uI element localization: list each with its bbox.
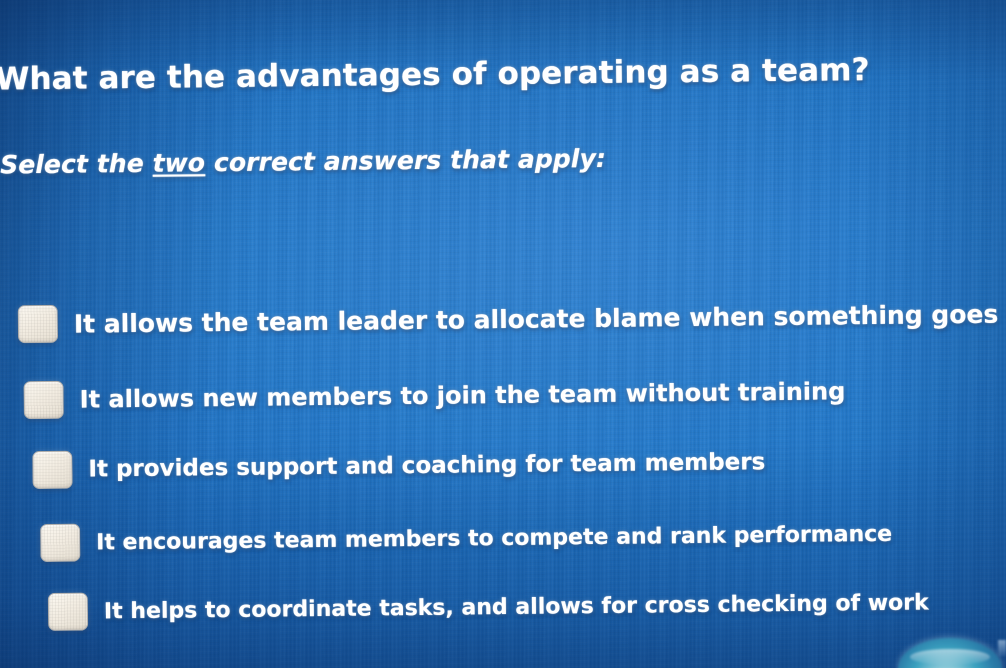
edge-glint-mark <box>998 640 1006 656</box>
option-row[interactable]: It allows new members to join the team w… <box>23 372 845 419</box>
option-label-2[interactable]: It provides support and coaching for tea… <box>88 449 765 482</box>
option-checkbox-2[interactable] <box>32 451 72 489</box>
quiz-screen: What are the advantages of operating as … <box>0 0 1006 668</box>
instruction-suffix: correct answers that apply: <box>205 144 606 177</box>
option-row[interactable]: It allows the team leader to allocate bl… <box>18 294 1006 344</box>
quiz-content: What are the advantages of operating as … <box>0 0 1006 668</box>
option-checkbox-3[interactable] <box>40 524 80 562</box>
option-checkbox-4[interactable] <box>48 593 88 631</box>
option-label-3[interactable]: It encourages team members to compete an… <box>96 521 892 555</box>
option-label-1[interactable]: It allows new members to join the team w… <box>80 377 846 413</box>
question-instruction: Select the two correct answers that appl… <box>0 144 606 180</box>
option-row[interactable]: It helps to coordinate tasks, and allows… <box>48 583 929 631</box>
option-checkbox-1[interactable] <box>23 381 63 419</box>
option-row[interactable]: It encourages team members to compete an… <box>40 515 892 562</box>
option-checkbox-0[interactable] <box>18 305 58 343</box>
question-title: What are the advantages of operating as … <box>0 52 870 97</box>
instruction-emphasis: two <box>152 148 205 178</box>
instruction-prefix: Select the <box>0 149 153 180</box>
option-label-4[interactable]: It helps to coordinate tasks, and allows… <box>104 590 929 624</box>
option-label-0[interactable]: It allows the team leader to allocate bl… <box>74 298 1006 338</box>
option-row[interactable]: It provides support and coaching for tea… <box>32 443 765 489</box>
